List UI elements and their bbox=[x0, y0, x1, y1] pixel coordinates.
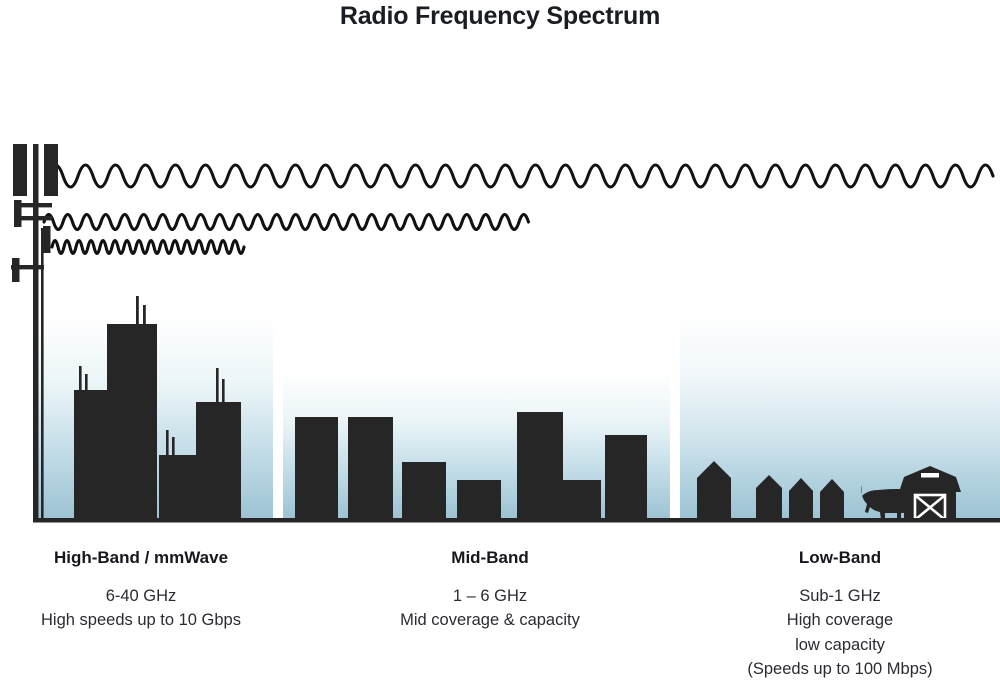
band-details-high-band: 6-40 GHz High speeds up to 10 Gbps bbox=[0, 584, 282, 633]
band-caption-mid-band: Mid-Band 1 – 6 GHz Mid coverage & capaci… bbox=[330, 548, 650, 633]
antenna-panel-mid-right bbox=[43, 226, 51, 253]
skyscraper-spire bbox=[166, 430, 169, 456]
band-caption-low-band: Low-Band Sub-1 GHz High coverage low cap… bbox=[680, 548, 1000, 682]
antenna-panel-top-left bbox=[13, 144, 27, 196]
ground-baseline bbox=[33, 518, 1000, 523]
skyscraper bbox=[74, 390, 107, 520]
band-title-mid-band: Mid-Band bbox=[330, 548, 650, 568]
low-frequency-wave bbox=[48, 165, 993, 187]
band-frequency-mid-band: 1 – 6 GHz bbox=[330, 584, 650, 608]
band-title-low-band: Low-Band bbox=[680, 548, 1000, 568]
house-body bbox=[820, 500, 844, 520]
skyscraper-spire bbox=[222, 379, 225, 404]
band-frequency-low-band: Sub-1 GHz bbox=[680, 584, 1000, 608]
high-frequency-wave bbox=[52, 241, 244, 254]
building bbox=[402, 462, 446, 520]
band-note-low-band-1: High coverage bbox=[680, 608, 1000, 632]
mid-frequency-wave bbox=[44, 215, 529, 230]
band-details-mid-band: 1 – 6 GHz Mid coverage & capacity bbox=[330, 584, 650, 633]
building bbox=[295, 417, 338, 520]
band-details-low-band: Sub-1 GHz High coverage low capacity (Sp… bbox=[680, 584, 1000, 682]
skyscraper bbox=[159, 455, 196, 520]
band-note-mid-band: Mid coverage & capacity bbox=[330, 608, 650, 632]
band-note-low-band-3: (Speeds up to 100 Mbps) bbox=[680, 657, 1000, 681]
band-caption-high-band: High-Band / mmWave 6-40 GHz High speeds … bbox=[0, 548, 282, 633]
skyscraper bbox=[196, 402, 241, 520]
skyscraper bbox=[107, 324, 157, 520]
skyscraper-spire bbox=[172, 437, 175, 456]
skyscraper-spire bbox=[143, 305, 146, 326]
skyscraper-spire bbox=[216, 368, 219, 404]
tower-mast-secondary bbox=[41, 228, 44, 520]
band-note-high-band: High speeds up to 10 Gbps bbox=[0, 608, 282, 632]
antenna-panel-mid-left bbox=[14, 200, 22, 227]
house-body bbox=[789, 499, 813, 520]
antenna-panel-top-right bbox=[44, 144, 58, 196]
building bbox=[348, 417, 393, 520]
building bbox=[457, 480, 501, 520]
hayloft-vent bbox=[921, 473, 939, 478]
skyscraper-spire bbox=[136, 296, 139, 326]
tower-mast bbox=[33, 144, 39, 520]
building bbox=[563, 480, 601, 520]
band-note-low-band-2: low capacity bbox=[680, 633, 1000, 657]
infographic-canvas: Radio Frequency Spectrum bbox=[0, 0, 1000, 700]
house-body bbox=[756, 497, 782, 520]
barn-body bbox=[904, 488, 956, 520]
radio-waves bbox=[44, 165, 993, 254]
antenna-panel-low-left bbox=[12, 258, 20, 282]
band-title-high-band: High-Band / mmWave bbox=[0, 548, 282, 568]
band-frequency-high-band: 6-40 GHz bbox=[0, 584, 282, 608]
building bbox=[605, 435, 647, 520]
building bbox=[517, 412, 563, 520]
house-body bbox=[697, 490, 731, 520]
